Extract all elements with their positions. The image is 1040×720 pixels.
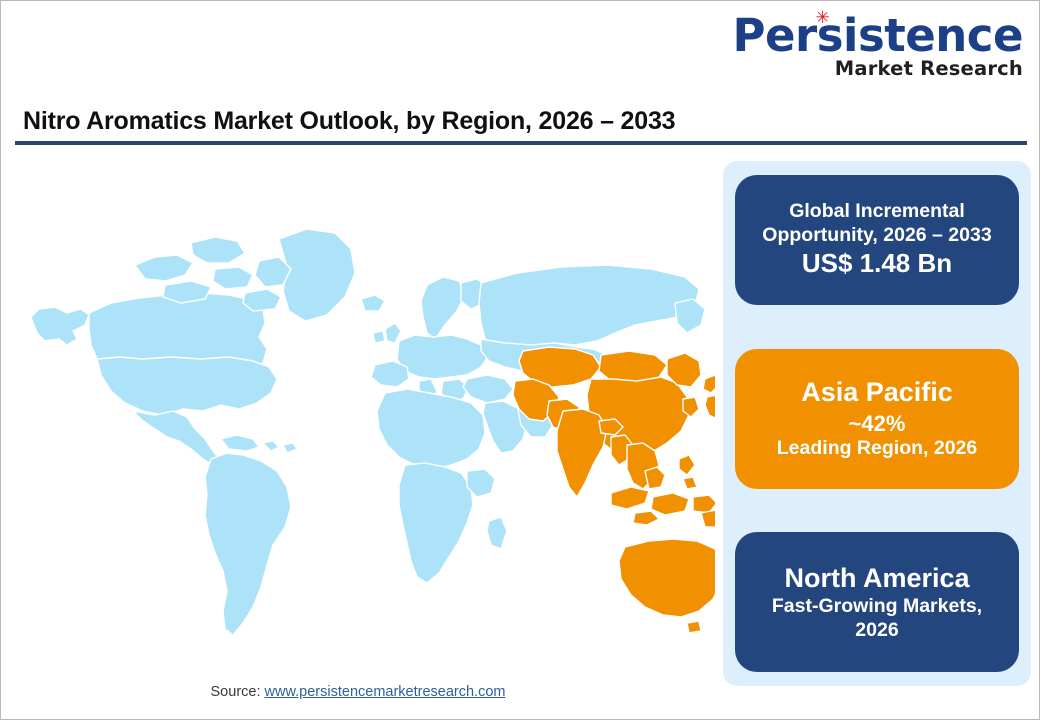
brand-name-label: Persistence — [733, 9, 1023, 62]
infographic-page: Persistence ✳ Market Research Nitro Arom… — [0, 0, 1040, 720]
kpi-panel: Global Incremental Opportunity, 2026 – 2… — [723, 161, 1031, 686]
brand-name-text: Persistence ✳ — [733, 13, 1023, 58]
card-leading-region: Asia Pacific ~42% Leading Region, 2026 — [735, 349, 1019, 489]
world-map-svg — [15, 153, 715, 673]
card1-line2: Opportunity, 2026 – 2033 — [762, 224, 991, 247]
brand-logo: Persistence ✳ Market Research — [733, 13, 1023, 79]
page-title: Nitro Aromatics Market Outlook, by Regio… — [23, 107, 675, 136]
card-global-incremental-opportunity: Global Incremental Opportunity, 2026 – 2… — [735, 175, 1019, 305]
source-link[interactable]: www.persistencemarketresearch.com — [265, 684, 506, 700]
card1-line1: Global Incremental — [789, 200, 965, 223]
card3-caption-line2: 2026 — [855, 619, 898, 642]
card2-share-value: ~42% — [849, 410, 906, 438]
title-divider — [15, 141, 1027, 145]
card2-region-name: Asia Pacific — [801, 376, 953, 410]
brand-star-icon: ✳ — [816, 10, 830, 27]
card3-caption-line1: Fast-Growing Markets, — [772, 595, 982, 618]
card1-value: US$ 1.48 Bn — [802, 247, 952, 280]
card2-caption: Leading Region, 2026 — [777, 437, 977, 460]
source-footer: Source: www.persistencemarketresearch.co… — [1, 684, 715, 700]
source-label: Source: — [211, 684, 261, 700]
card3-region-name: North America — [784, 562, 969, 596]
card-fast-growing-market: North America Fast-Growing Markets, 2026 — [735, 532, 1019, 672]
world-map — [15, 153, 715, 673]
map-region-asia-pacific — [513, 347, 715, 633]
